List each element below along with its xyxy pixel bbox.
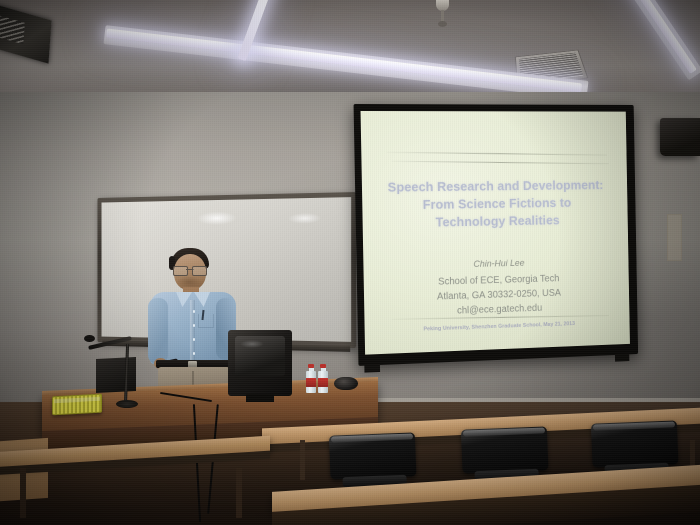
desk-leg <box>20 468 26 518</box>
shirt-button <box>193 324 196 327</box>
black-equipment-box[interactable] <box>96 357 136 393</box>
shirt-pocket <box>198 314 214 328</box>
screen-foot <box>364 364 380 373</box>
slide-author: Chin-Hui Lee <box>372 255 621 272</box>
lecture-hall-scene: Speech Research and Development: From Sc… <box>0 0 700 525</box>
desk-leg <box>300 440 305 480</box>
wall-panel <box>667 214 682 261</box>
presenter-arm-left <box>148 298 168 364</box>
dark-puck-object[interactable] <box>334 377 358 390</box>
desk-leg <box>236 468 242 518</box>
slide-title-line-1: Speech Research and Development: <box>370 177 619 197</box>
slide-divider-line <box>392 161 609 164</box>
crt-monitor[interactable] <box>228 324 292 400</box>
whiteboard-glare <box>288 212 322 224</box>
shirt-button <box>193 338 196 341</box>
eyeglasses-icon <box>173 266 207 274</box>
microphone-base <box>116 400 138 408</box>
slide-title-line-3: Technology Realities <box>371 210 620 232</box>
microphone-icon[interactable] <box>84 335 95 342</box>
water-bottles[interactable] <box>306 364 332 394</box>
slide-footer: Peking University, Shenzhen Graduate Sch… <box>373 320 622 335</box>
screen-foot <box>615 353 629 361</box>
water-bottle[interactable] <box>306 364 316 393</box>
monitor-glare <box>240 340 264 348</box>
slide-affiliation: School of ECE, Georgia Tech Atlanta, GA … <box>372 270 622 322</box>
shirt-button <box>193 310 196 313</box>
presentation-slide[interactable]: Speech Research and Development: From Sc… <box>361 111 630 355</box>
wall-speaker-icon <box>660 118 700 156</box>
presenter[interactable] <box>150 248 236 398</box>
sprinkler-head-icon <box>436 0 449 28</box>
whiteboard-glare <box>197 211 237 226</box>
monitor-stand <box>246 394 274 402</box>
shirt-button <box>193 352 196 355</box>
water-bottle[interactable] <box>318 364 328 393</box>
slide-divider-line <box>386 151 606 155</box>
projection-screen[interactable]: Speech Research and Development: From Sc… <box>354 104 639 366</box>
yellow-basket[interactable] <box>52 394 102 416</box>
slide-title: Speech Research and Development: From Sc… <box>370 177 620 232</box>
